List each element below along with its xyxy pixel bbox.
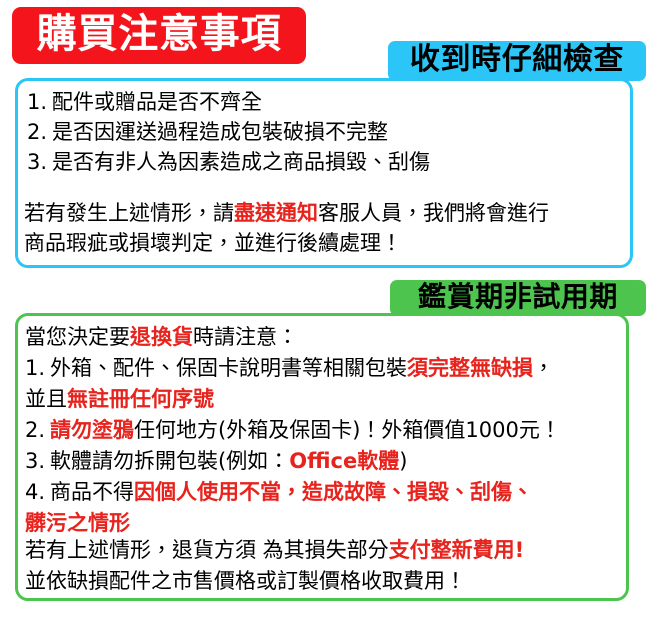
return-item-4-number: 4.	[25, 480, 45, 504]
return-item-1-line-2: 並且無註冊任何序號	[25, 384, 561, 415]
return-policy-list: 當您決定要退換貨時請注意： 1.外箱、配件、保固卡說明書等相關包裝須完整無缺損，…	[25, 322, 561, 539]
checklist-item-text: 是否有非人為因素造成之商品損毀、刮傷	[52, 150, 430, 174]
return-intro-highlight: 退換貨	[130, 325, 193, 349]
return-item-2-line-1: 2.請勿塗鴉任何地方(外箱及保固卡)！外箱價值1000元！	[25, 415, 561, 446]
main-title-text: 購買注意事項	[37, 14, 282, 54]
return-item-2-text: 任何地方(外箱及保固卡)！外箱價值1000元！	[134, 418, 561, 442]
checklist-item-number: 2.	[27, 120, 47, 144]
inspection-note-line-2: 商品瑕疵或損壞判定，並進行後續處理！	[24, 228, 549, 258]
return-note-line-2: 並依缺損配件之市售價格或訂製價格收取費用！	[25, 566, 524, 597]
return-policy-note: 若有上述情形，退貨方須 為其損失部分支付整新費用! 並依缺損配件之市售價格或訂製…	[25, 535, 524, 597]
inspection-note-tail: 客服人員，我們將會進行	[318, 201, 549, 225]
return-item-3-text: 軟體請勿拆開包裝(例如：	[50, 449, 289, 473]
inspection-note-lead: 若有發生上述情形，請	[24, 201, 234, 225]
inspection-note-line-1: 若有發生上述情形，請盡速通知客服人員，我們將會進行	[24, 198, 549, 228]
return-note-line-1: 若有上述情形，退貨方須 為其損失部分支付整新費用!	[25, 535, 524, 566]
return-item-1-cont-text: 並且	[25, 387, 67, 411]
return-item-4-cont-highlight: 髒污之情形	[25, 511, 130, 535]
inspection-note: 若有發生上述情形，請盡速通知客服人員，我們將會進行 商品瑕疵或損壞判定，並進行後…	[24, 198, 549, 258]
trial-period-badge-text: 鑑賞期非試用期	[418, 283, 618, 311]
inspection-badge: 收到時仔細檢查	[388, 41, 646, 81]
checklist-item-text: 是否因運送過程造成包裝破損不完整	[52, 120, 388, 144]
checklist-item-number: 1.	[27, 90, 47, 114]
return-item-2-highlight: 請勿塗鴉	[50, 418, 134, 442]
return-item-2-number: 2.	[25, 418, 45, 442]
return-item-4-highlight: 因個人使用不當，造成故障、損毀、刮傷、	[134, 480, 533, 504]
checklist-item-text: 配件或贈品是否不齊全	[52, 90, 262, 114]
return-intro: 當您決定要退換貨時請注意：	[25, 322, 561, 353]
return-item-1-text: 外箱、配件、保固卡說明書等相關包裝	[50, 356, 407, 380]
return-item-3-line-1: 3.軟體請勿拆開包裝(例如：Office軟體)	[25, 446, 561, 477]
main-title-badge: 購買注意事項	[12, 7, 306, 64]
inspection-checklist: 1.配件或贈品是否不齊全 2.是否因運送過程造成包裝破損不完整 3.是否有非人為…	[27, 87, 430, 177]
checklist-item: 2.是否因運送過程造成包裝破損不完整	[27, 117, 430, 147]
return-intro-lead: 當您決定要	[25, 325, 130, 349]
return-item-3-highlight: Office軟體	[289, 449, 399, 473]
return-item-4-line-1: 4.商品不得因個人使用不當，造成故障、損毀、刮傷、	[25, 477, 561, 508]
return-item-1-highlight: 須完整無缺損	[407, 356, 533, 380]
checklist-item: 1.配件或贈品是否不齊全	[27, 87, 430, 117]
checklist-item: 3.是否有非人為因素造成之商品損毀、刮傷	[27, 147, 430, 177]
inspection-note-highlight: 盡速通知	[234, 201, 318, 225]
trial-period-badge: 鑑賞期非試用期	[390, 280, 646, 316]
return-item-3-number: 3.	[25, 449, 45, 473]
return-item-1-cont-highlight: 無註冊任何序號	[67, 387, 214, 411]
inspection-badge-text: 收到時仔細檢查	[410, 45, 624, 75]
return-item-4-text: 商品不得	[50, 480, 134, 504]
return-note-highlight: 支付整新費用!	[389, 538, 525, 562]
return-item-3-tail: )	[399, 449, 407, 473]
return-note-lead: 若有上述情形，退貨方須 為其損失部分	[25, 538, 389, 562]
checklist-item-number: 3.	[27, 150, 47, 174]
return-item-1-line-1: 1.外箱、配件、保固卡說明書等相關包裝須完整無缺損，	[25, 353, 561, 384]
return-intro-tail: 時請注意：	[193, 325, 298, 349]
notice-canvas: 購買注意事項 收到時仔細檢查 鑑賞期非試用期 1.配件或贈品是否不齊全 2.是否…	[0, 0, 650, 622]
return-item-1-comma: ，	[533, 356, 554, 380]
return-item-1-number: 1.	[25, 356, 45, 380]
